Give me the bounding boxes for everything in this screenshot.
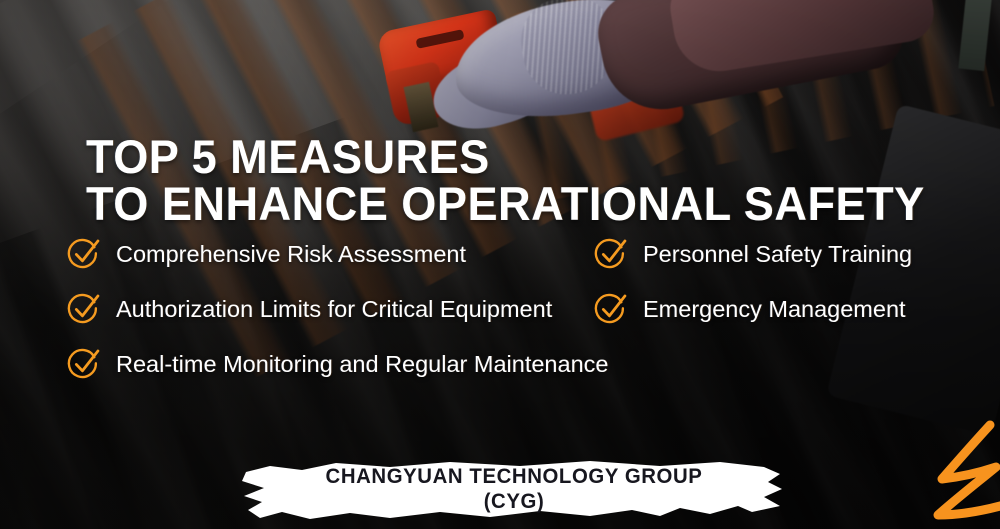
list-item: Real-time Monitoring and Regular Mainten… [66,346,608,382]
company-banner: CHANGYUAN TECHNOLOGY GROUP(CYG) [240,456,788,526]
measures-row: Authorization Limits for Critical Equipm… [66,291,966,346]
measures-list: Comprehensive Risk Assessment Personnel … [66,236,966,401]
list-item-label: Emergency Management [643,296,906,322]
company-name-line-1: CHANGYUAN TECHNOLOGY GROUP [326,465,703,488]
list-item-label: Comprehensive Risk Assessment [116,241,466,267]
list-item: Personnel Safety Training [593,236,912,272]
company-banner-text: CHANGYUAN TECHNOLOGY GROUP(CYG) [248,464,780,514]
headline-line-1: TOP 5 MEASURES [86,130,490,183]
check-circle-icon [66,291,102,327]
orange-zigzag-scribble-icon [916,419,1000,529]
measures-row: Comprehensive Risk Assessment Personnel … [66,236,966,291]
check-circle-icon [593,236,629,272]
list-item: Comprehensive Risk Assessment [66,236,466,272]
list-item-label: Authorization Limits for Critical Equipm… [116,296,552,322]
poster-content: TOP 5 MEASURESTO ENHANCE OPERATIONAL SAF… [0,0,1000,529]
check-circle-icon [66,346,102,382]
check-circle-icon [66,236,102,272]
list-item-label: Personnel Safety Training [643,241,912,267]
safety-poster: TOP 5 MEASURESTO ENHANCE OPERATIONAL SAF… [0,0,1000,529]
list-item-label: Real-time Monitoring and Regular Mainten… [116,351,608,377]
page-title: TOP 5 MEASURESTO ENHANCE OPERATIONAL SAF… [86,133,931,227]
list-item: Emergency Management [593,291,906,327]
list-item: Authorization Limits for Critical Equipm… [66,291,552,327]
check-circle-icon [593,291,629,327]
headline-line-2: TO ENHANCE OPERATIONAL SAFETY [86,180,931,227]
company-name-line-2: (CYG) [248,489,780,514]
measures-row: Real-time Monitoring and Regular Mainten… [66,346,966,401]
